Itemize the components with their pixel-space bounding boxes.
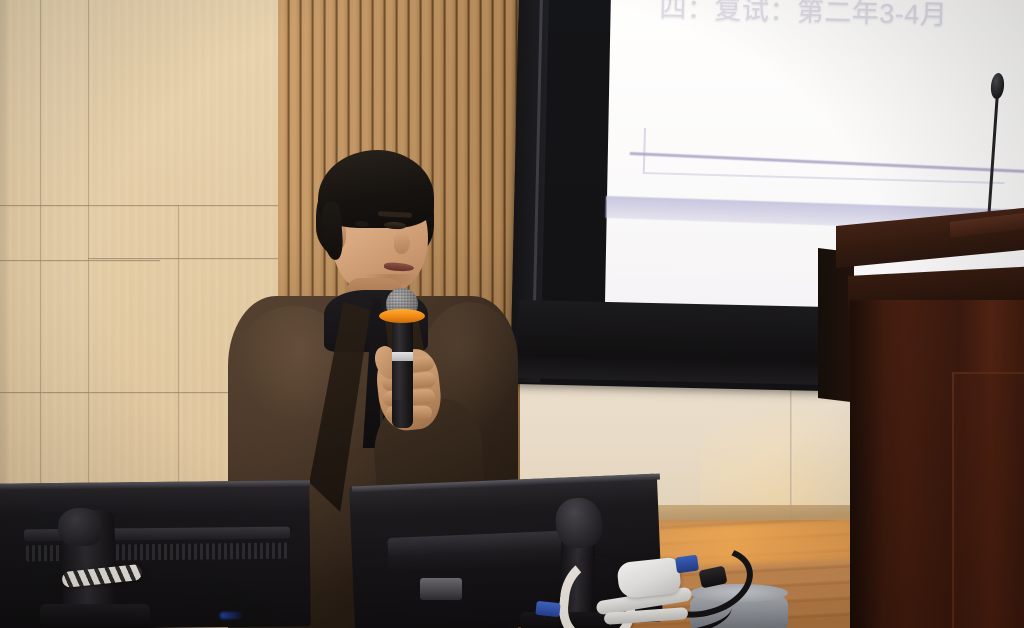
monitor-left-base [40,604,150,628]
wall-seam-horizontal-2 [0,260,160,262]
handheld-microphone-label-band [392,352,413,361]
lectern-left-shadow [850,300,884,628]
blue-vga-connector [675,555,699,574]
lectern-panel-inset [952,372,1024,628]
blue-connector-secondary [535,601,560,617]
monitor-left-power-led [220,612,242,619]
monitor-right-vesa-clip [420,578,462,600]
wall-seam-vertical-1 [40,0,42,500]
handheld-microphone-lower-body [392,400,413,428]
handheld-microphone-body [392,318,413,410]
black-cable-trailing [611,589,733,628]
lectern-side-shadow [818,248,854,402]
lecture-hall-photo: 四：复试：第二年3-4月 [0,0,1024,628]
monitor-left-stand-hinge [58,508,102,546]
wall-seam-vertical-2 [88,0,90,500]
handheld-microphone-orange-windscreen [379,309,425,323]
wall-seam-vertical-3 [178,205,180,500]
